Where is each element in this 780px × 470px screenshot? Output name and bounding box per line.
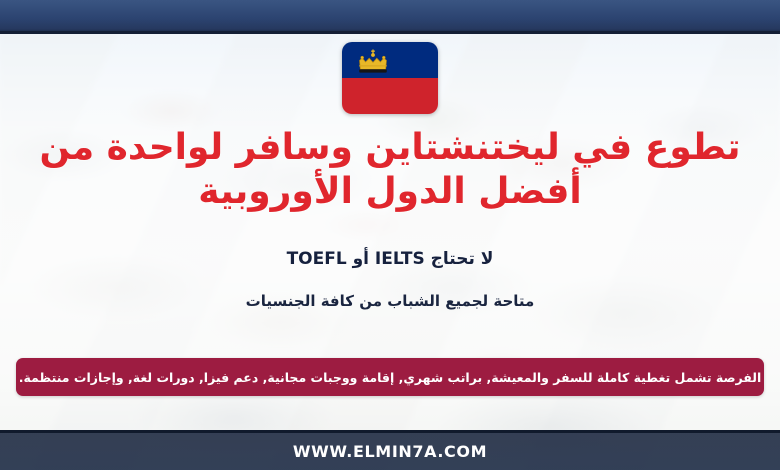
liechtenstein-flag-icon [342, 42, 438, 114]
headline: تطوع في ليختنشتاين وسافر لواحدة من أفضل … [28, 126, 752, 214]
footer-bar: WWW.ELMIN7A.COM [0, 433, 780, 470]
top-navy-band [0, 0, 780, 33]
poster-canvas: تطوع في ليختنشتاين وسافر لواحدة من أفضل … [0, 0, 780, 470]
flag-container [342, 42, 438, 114]
benefits-text: الفرصة تشمل تغطية كاملة للسفر والمعيشة, … [9, 370, 772, 385]
flag-red-band [342, 78, 438, 114]
benefits-banner: الفرصة تشمل تغطية كاملة للسفر والمعيشة, … [16, 358, 764, 396]
subtitle-open-to-all-nationalities: متاحة لجميع الشباب من كافة الجنسيات [0, 292, 780, 310]
subtitle-no-test-required: لا تحتاج IELTS أو TOEFL [0, 249, 780, 269]
top-band-divider [0, 31, 780, 34]
website-url[interactable]: WWW.ELMIN7A.COM [293, 442, 487, 461]
crown-icon [356, 49, 390, 76]
